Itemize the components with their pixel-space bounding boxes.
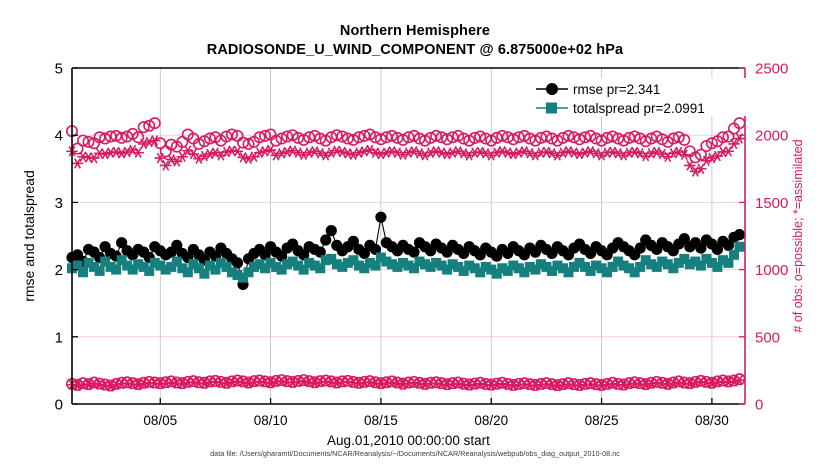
ytick-label-left-0: 0 (55, 397, 63, 414)
ytick-label-right-5: 2500 (755, 61, 788, 78)
datapoint-assimilated (695, 164, 706, 174)
x-axis-title: Aug.01,2010 00:00:00 start (327, 433, 490, 448)
xtick-label-3: 08/20 (474, 413, 508, 428)
legend-label-1: totalspread pr=2.0991 (573, 101, 705, 116)
y-axis-title-right: # of obs: o=possible; *=assimilated (791, 139, 805, 332)
datapoint-rmse (232, 257, 243, 268)
datapoint-rmse (734, 229, 745, 240)
datapoint-totalspread (95, 266, 105, 276)
data-file-note: data file: /Users/gharamti/Documents/NCA… (0, 449, 830, 458)
ytick-label-right-3: 1500 (755, 195, 788, 212)
datapoint-rmse (375, 212, 386, 223)
datapoint-assimilated (133, 148, 144, 158)
legend-marker-0 (546, 83, 558, 95)
datapoint-totalspread (111, 265, 121, 275)
xtick-label-1: 08/10 (254, 413, 288, 428)
xtick-label-0: 08/05 (143, 413, 177, 428)
xtick-label-2: 08/15 (364, 413, 398, 428)
xtick-label-4: 08/25 (585, 413, 619, 428)
datapoint-totalspread (734, 242, 744, 252)
datapoint-rmse (326, 225, 337, 236)
ytick-label-left-4: 4 (55, 128, 63, 145)
legend-marker-1 (546, 103, 557, 114)
y-axis-title-left: rmse and totalspread (21, 170, 37, 302)
ytick-label-left-1: 1 (55, 329, 63, 346)
datapoint-totalspread (78, 267, 88, 277)
legend-label-0: rmse pr=2.341 (573, 82, 660, 97)
ytick-label-right-1: 500 (755, 329, 780, 346)
ytick-label-left-3: 3 (55, 195, 63, 212)
ytick-label-right-0: 0 (755, 397, 763, 414)
ytick-label-right-2: 1000 (755, 262, 788, 279)
datapoint-rmse (320, 234, 331, 245)
xtick-label-5: 08/30 (695, 413, 729, 428)
datapoint-rmse (408, 247, 419, 258)
chart-figure: Northern Hemisphere RADIOSONDE_U_WIND_CO… (0, 0, 830, 470)
plot-canvas: 0123450500100015002000250008/0508/1008/1… (0, 0, 830, 470)
ytick-label-right-4: 2000 (755, 128, 788, 145)
ytick-label-left-5: 5 (55, 61, 63, 78)
series-rmse (66, 212, 745, 290)
ytick-label-left-2: 2 (55, 262, 63, 279)
